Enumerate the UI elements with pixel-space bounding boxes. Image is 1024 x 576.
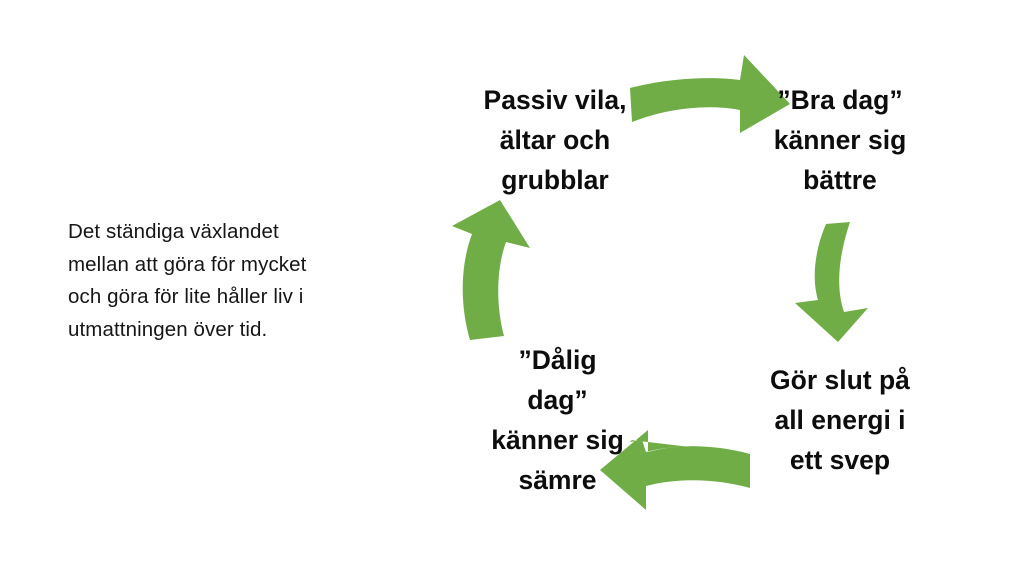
cycle-diagram: Passiv vila, ältar och grubblar ”Bra dag… bbox=[440, 0, 1024, 576]
arrow-right-icon bbox=[795, 222, 868, 342]
cycle-node-good-day: ”Bra dag” känner sig bättre bbox=[740, 80, 940, 200]
cycle-node-bad-day: ”Dålig dag” känner sig sämre bbox=[460, 340, 655, 500]
arrow-left-icon bbox=[452, 200, 530, 340]
cycle-node-spend-energy: Gör slut på all energi i ett svep bbox=[742, 360, 938, 480]
cycle-node-passive-rest: Passiv vila, ältar och grubblar bbox=[460, 80, 650, 200]
description-paragraph: Det ständiga växlandet mellan att göra f… bbox=[68, 216, 408, 346]
